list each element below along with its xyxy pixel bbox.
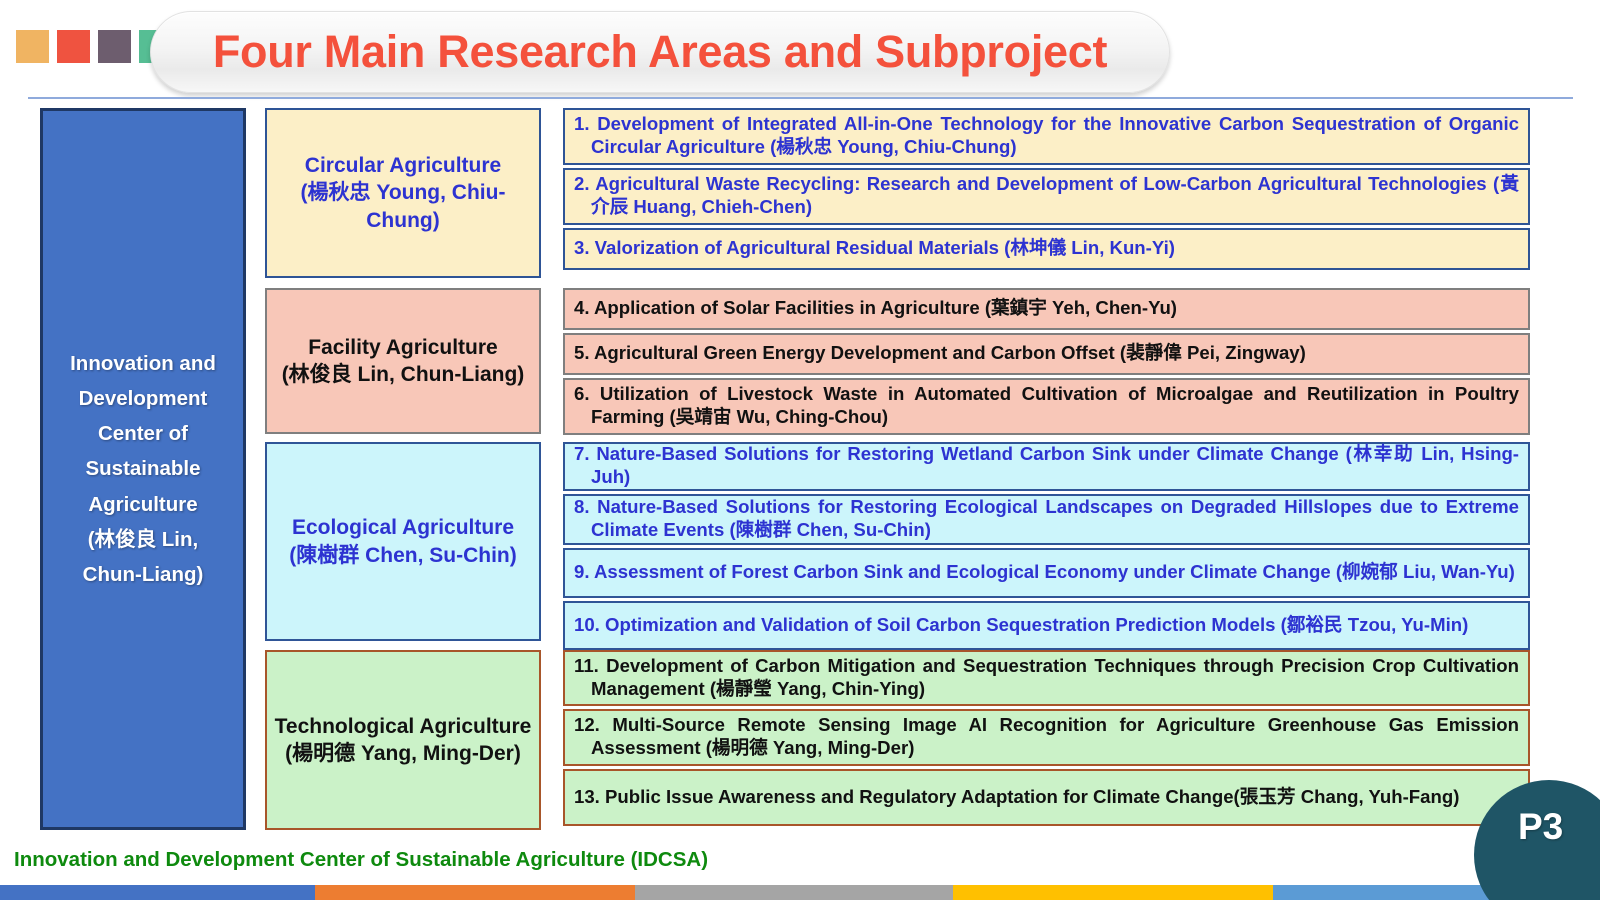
footer-color-bars — [0, 885, 1600, 900]
subproject-label: 7. Nature-Based Solutions for Restoring … — [574, 443, 1519, 488]
subproject-label: 2. Agricultural Waste Recycling: Researc… — [574, 173, 1519, 218]
subproject-label: 9. Assessment of Forest Carbon Sink and … — [574, 561, 1519, 584]
subproject-row[interactable]: 5. Agricultural Green Energy Development… — [563, 333, 1530, 375]
decorative-squares — [16, 30, 172, 63]
area-box-circular[interactable]: Circular Agriculture (楊秋忠 Young, Chiu-Ch… — [265, 108, 541, 278]
bar-orange — [315, 885, 635, 900]
bar-gray — [635, 885, 953, 900]
subproject-row[interactable]: 3. Valorization of Agricultural Residual… — [563, 228, 1530, 270]
bar-blue — [0, 885, 315, 900]
subproject-row[interactable]: 7. Nature-Based Solutions for Restoring … — [563, 442, 1530, 491]
area-column-circular: Circular Agriculture (楊秋忠 Young, Chiu-Ch… — [265, 108, 541, 278]
subproject-label: 8. Nature-Based Solutions for Restoring … — [574, 496, 1519, 541]
area-label-ecological: Ecological Agriculture (陳樹群 Chen, Su-Chi… — [289, 514, 516, 569]
subproject-row[interactable]: 10. Optimization and Validation of Soil … — [563, 601, 1530, 650]
subproject-row[interactable]: 12. Multi-Source Remote Sensing Image AI… — [563, 709, 1530, 766]
subproject-row[interactable]: 9. Assessment of Forest Carbon Sink and … — [563, 548, 1530, 598]
subproject-label: 11. Development of Carbon Mitigation and… — [574, 655, 1519, 700]
subproject-row[interactable]: 8. Nature-Based Solutions for Restoring … — [563, 494, 1530, 545]
area-box-ecological[interactable]: Ecological Agriculture (陳樹群 Chen, Su-Chi… — [265, 442, 541, 641]
title-banner: Four Main Research Areas and Subproject — [150, 11, 1170, 93]
research-areas-board: Innovation and Development Center of Sus… — [0, 105, 1600, 835]
bar-yellow — [953, 885, 1273, 900]
subproject-row[interactable]: 1. Development of Integrated All-in-One … — [563, 108, 1530, 165]
items-column-technological: 11. Development of Carbon Mitigation and… — [563, 650, 1530, 826]
area-box-facility[interactable]: Facility Agriculture (林俊良 Lin, Chun-Lian… — [265, 288, 541, 434]
area-label-facility: Facility Agriculture (林俊良 Lin, Chun-Lian… — [282, 334, 525, 389]
subproject-row[interactable]: 2. Agricultural Waste Recycling: Researc… — [563, 168, 1530, 225]
area-box-technological[interactable]: Technological Agriculture (楊明德 Yang, Min… — [265, 650, 541, 830]
area-label-technological: Technological Agriculture (楊明德 Yang, Min… — [275, 713, 532, 768]
subproject-label: 3. Valorization of Agricultural Residual… — [574, 237, 1519, 260]
subproject-label: 4. Application of Solar Facilities in Ag… — [574, 297, 1519, 320]
items-column-facility: 4. Application of Solar Facilities in Ag… — [563, 288, 1530, 435]
square-orange-icon — [16, 30, 49, 63]
subproject-label: 6. Utilization of Livestock Waste in Aut… — [574, 383, 1519, 428]
area-column-technological: Technological Agriculture (楊明德 Yang, Min… — [265, 650, 541, 830]
area-label-circular: Circular Agriculture (楊秋忠 Young, Chiu-Ch… — [274, 152, 532, 234]
subproject-row[interactable]: 6. Utilization of Livestock Waste in Aut… — [563, 378, 1530, 435]
area-column-ecological: Ecological Agriculture (陳樹群 Chen, Su-Chi… — [265, 442, 541, 641]
subproject-label: 5. Agricultural Green Energy Development… — [574, 342, 1519, 365]
page-title: Four Main Research Areas and Subproject — [213, 26, 1107, 78]
items-column-ecological: 7. Nature-Based Solutions for Restoring … — [563, 442, 1530, 650]
area-column-facility: Facility Agriculture (林俊良 Lin, Chun-Lian… — [265, 288, 541, 434]
subproject-row[interactable]: 11. Development of Carbon Mitigation and… — [563, 650, 1530, 706]
footer-caption: Innovation and Development Center of Sus… — [14, 848, 708, 872]
subproject-label: 10. Optimization and Validation of Soil … — [574, 614, 1519, 637]
square-purple-icon — [98, 30, 131, 63]
subproject-label: 13. Public Issue Awareness and Regulator… — [574, 786, 1519, 809]
slide-root: Four Main Research Areas and Subproject … — [0, 0, 1600, 900]
center-panel-label: Innovation and Development Center of Sus… — [70, 346, 216, 593]
page-number: P3 — [1518, 806, 1563, 848]
subproject-label: 1. Development of Integrated All-in-One … — [574, 113, 1519, 158]
subproject-row[interactable]: 4. Application of Solar Facilities in Ag… — [563, 288, 1530, 330]
items-column-circular: 1. Development of Integrated All-in-One … — [563, 108, 1530, 270]
square-red-icon — [57, 30, 90, 63]
center-panel: Innovation and Development Center of Sus… — [40, 108, 246, 830]
subproject-row[interactable]: 13. Public Issue Awareness and Regulator… — [563, 769, 1530, 826]
subproject-label: 12. Multi-Source Remote Sensing Image AI… — [574, 714, 1519, 759]
header-divider — [28, 97, 1573, 99]
